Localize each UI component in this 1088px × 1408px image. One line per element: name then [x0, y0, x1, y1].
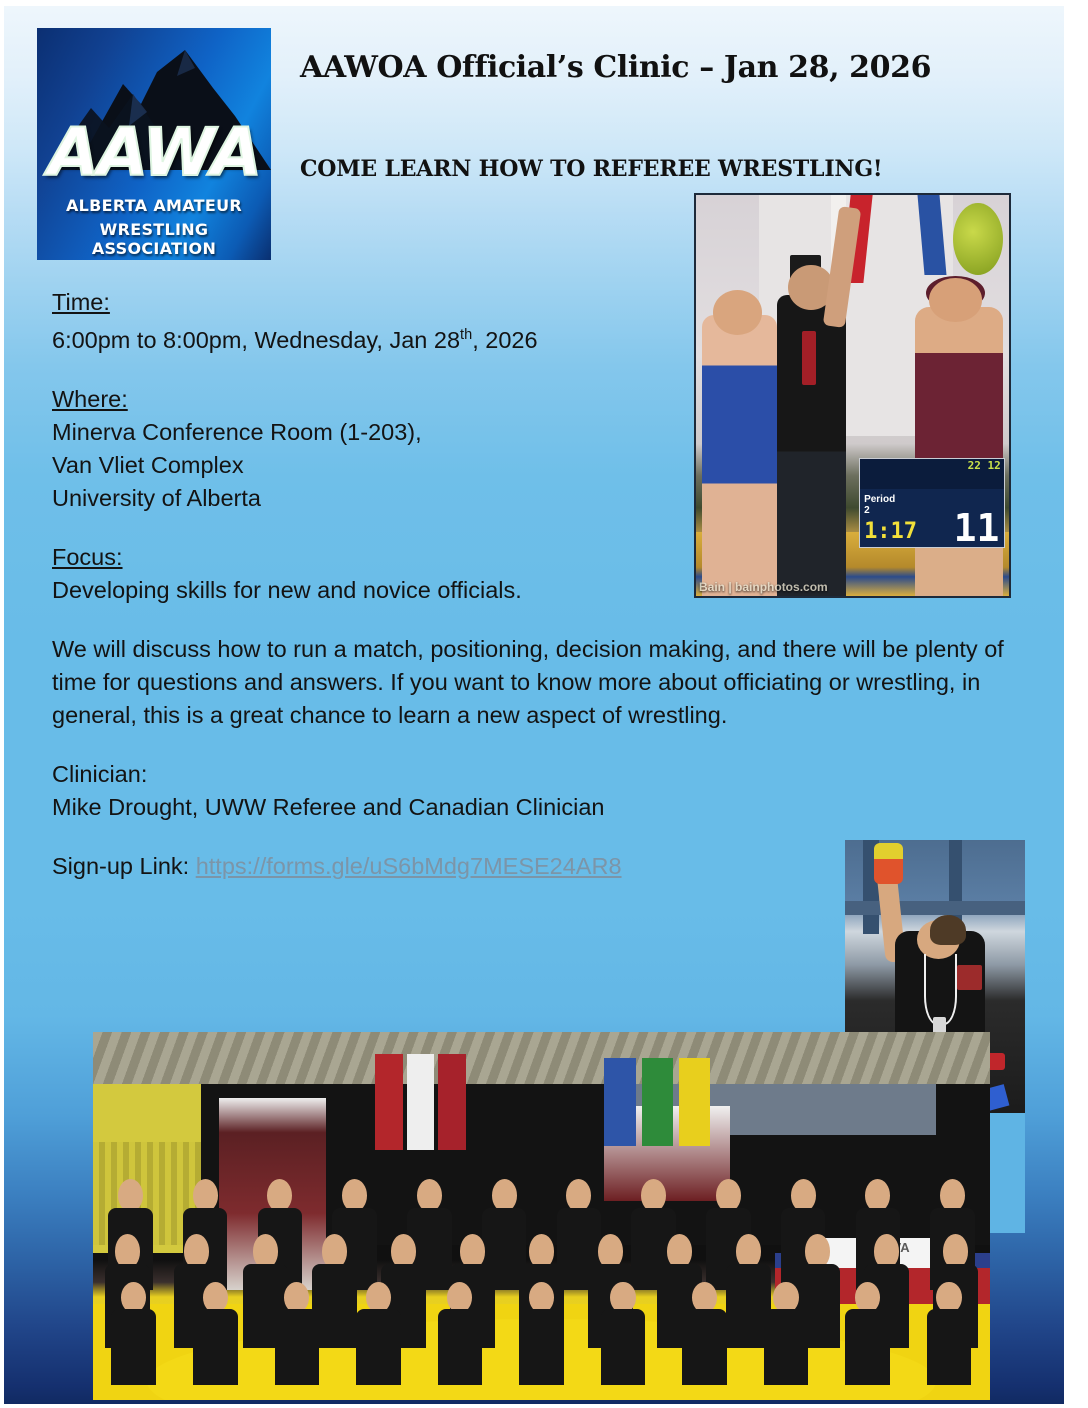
focus-value: Developing skills for new and novice off…	[52, 574, 692, 607]
person	[599, 1282, 647, 1385]
person	[843, 1282, 891, 1385]
where-heading: Where:	[52, 383, 692, 416]
time-heading: Time:	[52, 286, 692, 319]
person	[762, 1282, 810, 1385]
person	[273, 1282, 321, 1385]
time-value-pre: 6:00pm to 8:00pm, Wednesday, Jan 28	[52, 327, 460, 353]
where-line-3: University of Alberta	[52, 482, 692, 515]
time-block: Time: 6:00pm to 8:00pm, Wednesday, Jan 2…	[52, 286, 692, 357]
where-line-2: Van Vliet Complex	[52, 449, 692, 482]
where-line-1: Minerva Conference Room (1-203),	[52, 416, 692, 449]
time-value-ordinal: th	[460, 327, 472, 343]
clinician-heading: Clinician:	[52, 758, 692, 791]
clinician-value: Mike Drought, UWW Referee and Canadian C…	[52, 791, 692, 824]
photo-officials-group: NOVA	[93, 1032, 990, 1400]
aawa-logo: AAWA ALBERTA AMATEUR WRESTLING ASSOCIATI…	[37, 28, 271, 260]
signup-label: Sign-up Link:	[52, 853, 189, 879]
referee-hair	[930, 915, 966, 945]
ceiling-rail	[845, 901, 1025, 915]
flyer-body: Time: 6:00pm to 8:00pm, Wednesday, Jan 2…	[52, 286, 1002, 909]
page-subtitle: COME LEARN HOW TO REFEREE WRESTLING!	[300, 156, 1000, 182]
person	[354, 1282, 402, 1385]
time-value: 6:00pm to 8:00pm, Wednesday, Jan 28th, 2…	[52, 319, 692, 357]
page-title: AAWOA Official’s Clinic – Jan 28, 2026	[300, 50, 1000, 85]
focus-block: Focus: Developing skills for new and nov…	[52, 541, 692, 607]
description-paragraph: We will discuss how to run a match, posi…	[52, 633, 1007, 732]
where-block: Where: Minerva Conference Room (1-203), …	[52, 383, 692, 515]
clinician-block: Clinician: Mike Drought, UWW Referee and…	[52, 758, 692, 824]
page-margin-top	[0, 0, 1088, 6]
logo-line-1: ALBERTA AMATEUR	[37, 196, 271, 215]
signup-block: Sign-up Link: https://forms.gle/uS6bMdg7…	[52, 850, 692, 883]
focus-heading: Focus:	[52, 541, 692, 574]
person	[191, 1282, 239, 1385]
signup-link[interactable]: https://forms.gle/uS6bMdg7MESE24AR8	[196, 853, 622, 879]
page-margin-left	[0, 0, 4, 1408]
logo-line-2: WRESTLING ASSOCIATION	[37, 220, 271, 258]
school-crest	[953, 203, 1003, 275]
person	[517, 1282, 565, 1385]
person	[925, 1282, 973, 1385]
time-value-post: , 2026	[472, 327, 537, 353]
group-front-row	[93, 1282, 990, 1385]
logo-acronym: AAWA	[37, 120, 271, 186]
person	[110, 1282, 158, 1385]
person	[680, 1282, 728, 1385]
person	[436, 1282, 484, 1385]
flag-group-right	[604, 1058, 748, 1146]
lanyard	[924, 954, 957, 1025]
shirt-badge	[957, 965, 982, 990]
flyer-page: AAWA ALBERTA AMATEUR WRESTLING ASSOCIATI…	[0, 0, 1088, 1408]
page-margin-right	[1064, 0, 1088, 1408]
flag-group-left	[371, 1054, 568, 1150]
wrestler-hand	[874, 843, 903, 860]
